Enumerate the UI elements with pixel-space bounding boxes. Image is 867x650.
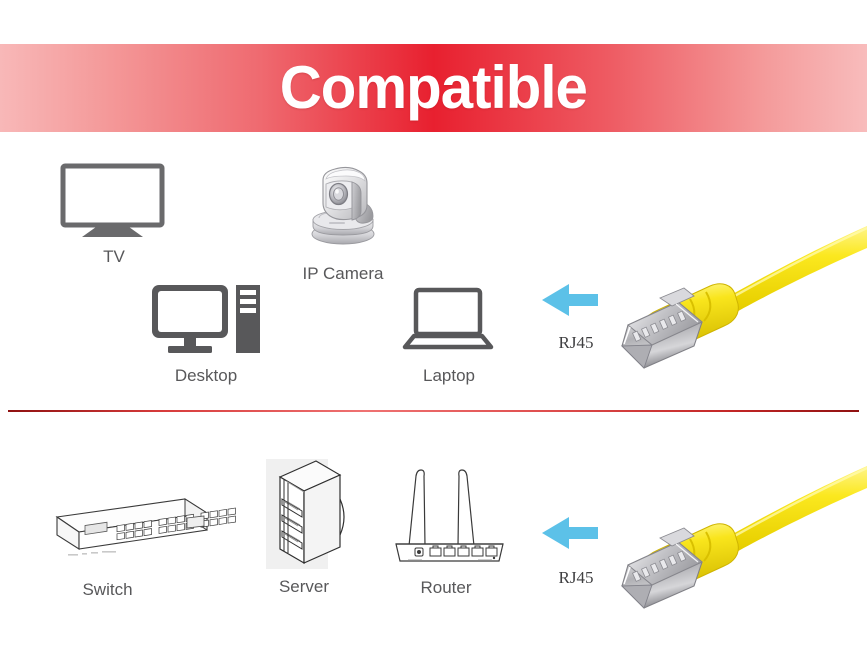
connector-label-rj45-bottom: RJ45 — [540, 568, 612, 588]
server-rack-icon — [258, 455, 350, 573]
device-label-ip-camera: IP Camera — [295, 264, 391, 284]
arrow-left-icon — [540, 283, 612, 317]
device-ip-camera: IP Camera — [295, 160, 391, 256]
network-switch-icon — [35, 487, 180, 567]
wireless-router-icon — [392, 460, 500, 570]
device-label-desktop: Desktop — [150, 366, 262, 386]
device-label-server: Server — [258, 577, 350, 597]
device-label-router: Router — [392, 578, 500, 598]
connector-label-rj45-top: RJ45 — [540, 333, 612, 353]
desktop-icon — [150, 283, 262, 359]
yellow-patch-cable-icon-bottom — [614, 462, 867, 602]
connector-top-rj45: RJ45 — [540, 283, 612, 317]
laptop-icon — [404, 288, 494, 350]
connector-bottom-rj45: RJ45 — [540, 516, 612, 550]
device-label-tv: TV — [60, 247, 168, 267]
device-label-laptop: Laptop — [404, 366, 494, 386]
ip-camera-icon — [295, 160, 391, 256]
section-divider — [8, 410, 859, 412]
device-tv: TV — [60, 163, 168, 241]
tv-icon — [60, 163, 168, 241]
device-server: Server — [258, 455, 350, 573]
device-laptop: Laptop — [404, 288, 494, 350]
arrow-left-icon — [540, 516, 612, 550]
device-router: Router — [392, 460, 500, 570]
device-desktop: Desktop — [150, 283, 262, 359]
device-switch: Switch — [35, 487, 180, 567]
device-label-switch: Switch — [35, 580, 180, 600]
page-title: Compatible — [280, 58, 587, 118]
yellow-patch-cable-icon-top — [614, 222, 867, 362]
compatibility-diagram-page: Compatible TV — [0, 0, 867, 650]
header-banner: Compatible — [0, 44, 867, 132]
